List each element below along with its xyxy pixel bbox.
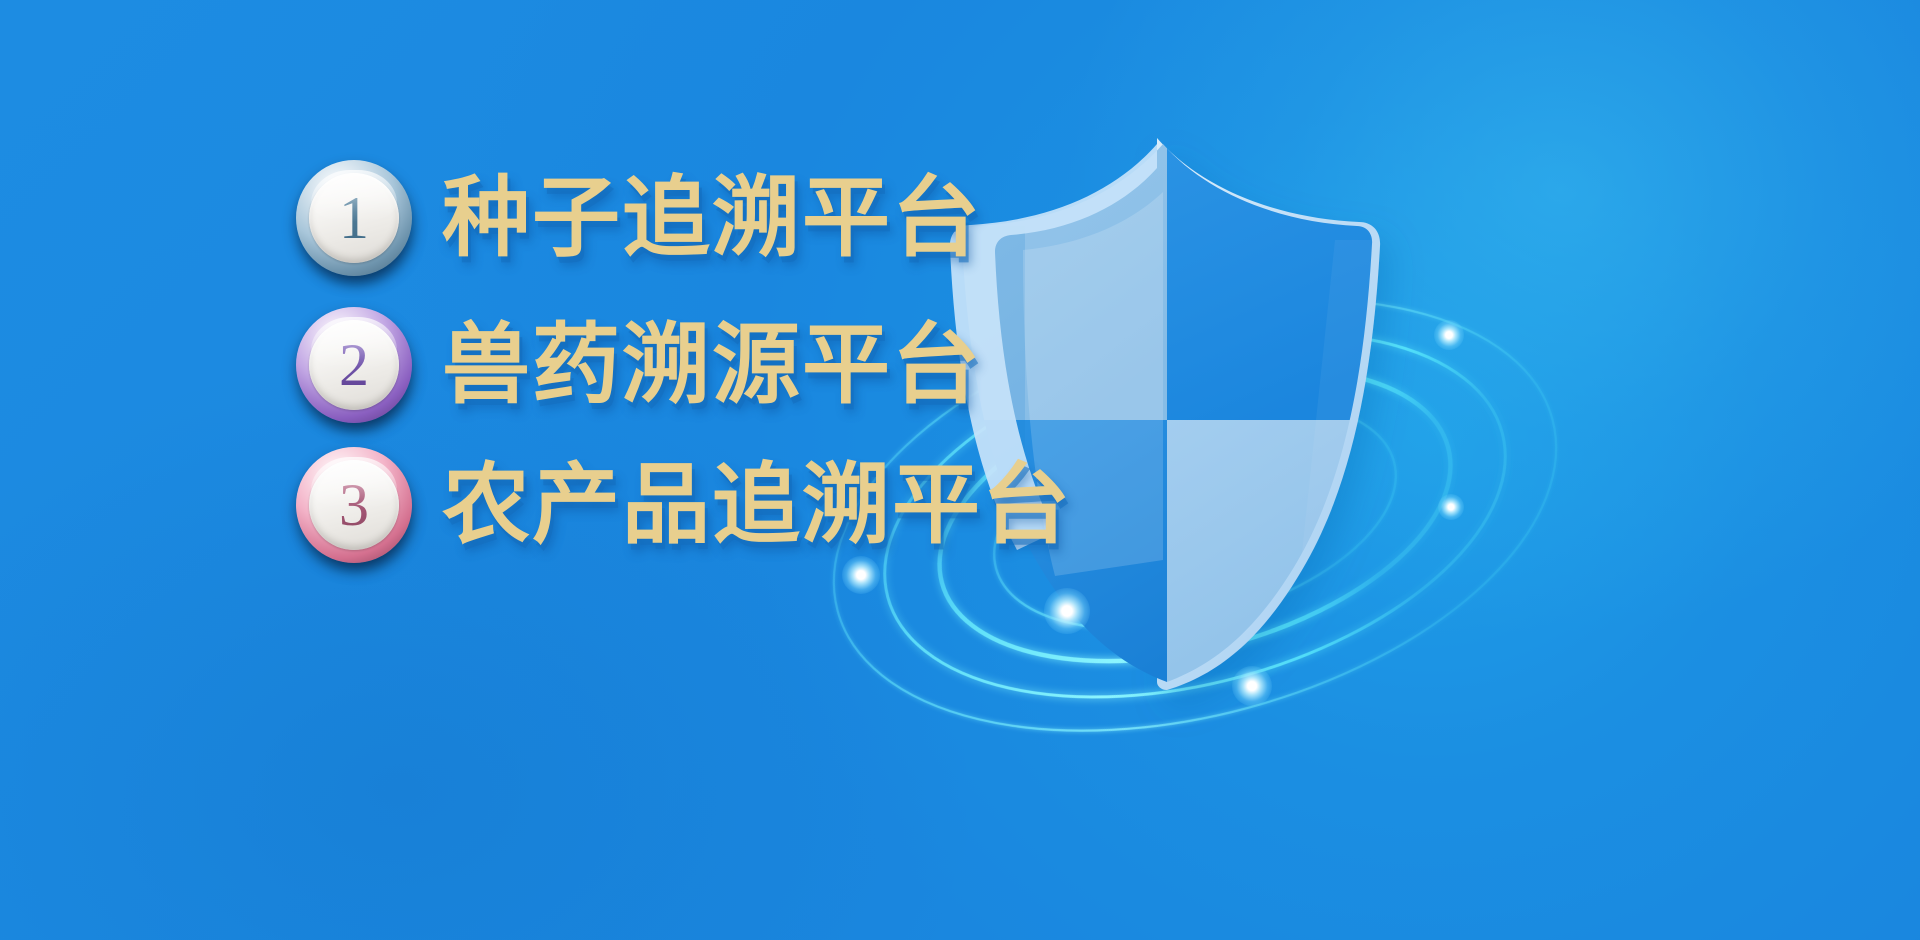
list-item[interactable]: 2 兽药溯源平台 [296, 307, 982, 423]
badge-three-number: 3 [339, 475, 369, 535]
badge-one-face: 1 [309, 173, 399, 263]
badge-two-face: 2 [309, 320, 399, 410]
list-item[interactable]: 3 农产品追溯平台 [296, 447, 1072, 563]
platform-list: 1 种子追溯平台 2 兽药溯源平台 3 [0, 0, 1920, 940]
platform-label-two: 兽药溯源平台 [442, 319, 982, 411]
platform-label-three: 农产品追溯平台 [442, 459, 1072, 551]
badge-one-number: 1 [339, 188, 369, 248]
badge-two: 2 [296, 307, 412, 423]
poster-canvas: 1 种子追溯平台 2 兽药溯源平台 3 [0, 0, 1920, 940]
platform-label-one: 种子追溯平台 [442, 172, 982, 264]
badge-one: 1 [296, 160, 412, 276]
badge-two-number: 2 [339, 335, 369, 395]
badge-three: 3 [296, 447, 412, 563]
list-item[interactable]: 1 种子追溯平台 [296, 160, 982, 276]
badge-three-face: 3 [309, 460, 399, 550]
